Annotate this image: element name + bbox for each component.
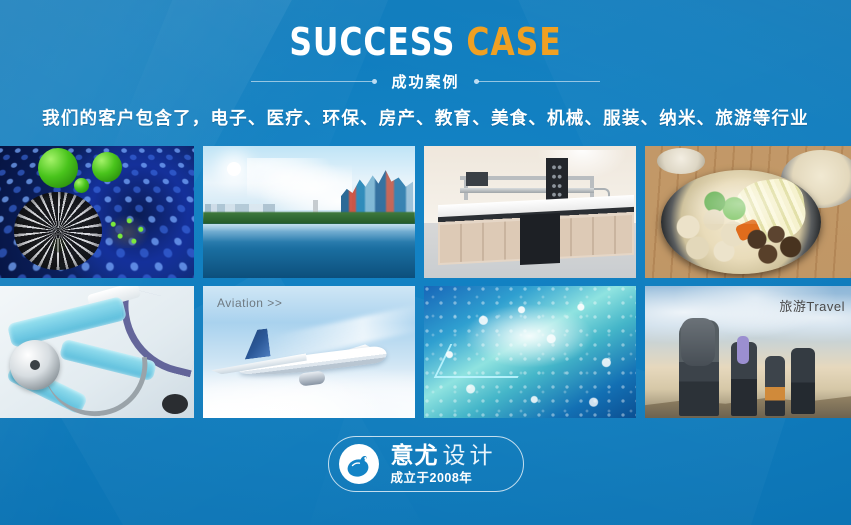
divider-bar bbox=[478, 81, 600, 82]
case-image-aviation[interactable]: Aviation >> bbox=[203, 286, 415, 418]
divider-left bbox=[251, 79, 377, 84]
page-title: SUCCESSCASE bbox=[34, 20, 817, 64]
travel-caption: 旅游Travel bbox=[779, 296, 845, 315]
case-image-travel-hiking[interactable]: 旅游Travel bbox=[645, 286, 851, 418]
brand-name-bold: 意尤 bbox=[391, 444, 439, 467]
subtitle-text: 成功案例 bbox=[391, 71, 459, 92]
case-image-food-hotpot[interactable] bbox=[645, 146, 851, 278]
brand-established: 成立于2008年 bbox=[391, 472, 473, 485]
brand-text: 意尤 设计 成立于2008年 bbox=[391, 444, 497, 485]
divider-bar bbox=[251, 81, 373, 82]
brand-name: 意尤 设计 bbox=[391, 444, 497, 467]
case-image-electronics-circuit[interactable] bbox=[424, 286, 636, 418]
hiker-bedroll bbox=[737, 336, 749, 364]
circuit-speckle bbox=[424, 286, 636, 418]
banner-footer: 意尤 设计 成立于2008年 bbox=[0, 436, 851, 492]
shelf-rail bbox=[460, 188, 594, 193]
stethoscope-chestpiece bbox=[10, 340, 60, 390]
shiitake-mushrooms bbox=[745, 226, 805, 264]
sun-icon bbox=[227, 162, 241, 176]
hiker-figure bbox=[765, 356, 785, 416]
nano-particle-cluster bbox=[104, 214, 150, 248]
hiker-figure bbox=[791, 348, 815, 414]
steam bbox=[675, 174, 805, 224]
smoke-plume bbox=[247, 158, 352, 210]
brand-logo[interactable]: 意尤 设计 成立于2008年 bbox=[328, 436, 524, 492]
case-image-environmental-protection[interactable] bbox=[203, 146, 415, 278]
nano-green-sphere bbox=[74, 178, 89, 193]
stethoscope-earpiece bbox=[162, 394, 188, 414]
title-accent-text: CASE bbox=[466, 20, 561, 64]
aviation-caption: Aviation >> bbox=[217, 296, 282, 310]
water-reflection bbox=[203, 224, 415, 242]
case-image-laboratory-furniture[interactable] bbox=[424, 146, 636, 278]
subtitle-row: 成功案例 bbox=[0, 71, 851, 91]
green-belt bbox=[203, 212, 415, 224]
hiker-backpack bbox=[681, 318, 715, 366]
brand-name-light: 设计 bbox=[443, 444, 497, 467]
airplane-tail bbox=[241, 329, 270, 360]
nano-green-sphere bbox=[92, 152, 122, 182]
mouse-logo-icon bbox=[339, 444, 379, 484]
bench-dark-cabinet bbox=[520, 213, 560, 265]
fullerene-cage bbox=[14, 192, 102, 270]
lab-instrument bbox=[466, 172, 488, 186]
nano-green-sphere bbox=[38, 148, 78, 188]
banner-header: SUCCESSCASE 成功案例 我们的客户包含了，电子、医疗、环保、房产、教育… bbox=[0, 0, 851, 130]
case-image-nanotechnology[interactable] bbox=[0, 146, 194, 278]
title-main-text: SUCCESS bbox=[289, 20, 455, 64]
divider-right bbox=[474, 79, 600, 84]
tagline-text: 我们的客户包含了，电子、医疗、环保、房产、教育、美食、机械、服装、纳米、旅游等行… bbox=[0, 105, 851, 130]
side-bowl bbox=[657, 148, 705, 174]
success-case-banner: SUCCESSCASE 成功案例 我们的客户包含了，电子、医疗、环保、房产、教育… bbox=[0, 0, 851, 525]
case-image-grid: Aviation >> 旅游Travel bbox=[0, 146, 851, 418]
divider-dot-icon bbox=[372, 79, 377, 84]
case-image-medical-equipment[interactable] bbox=[0, 286, 194, 418]
control-panel bbox=[546, 158, 568, 204]
